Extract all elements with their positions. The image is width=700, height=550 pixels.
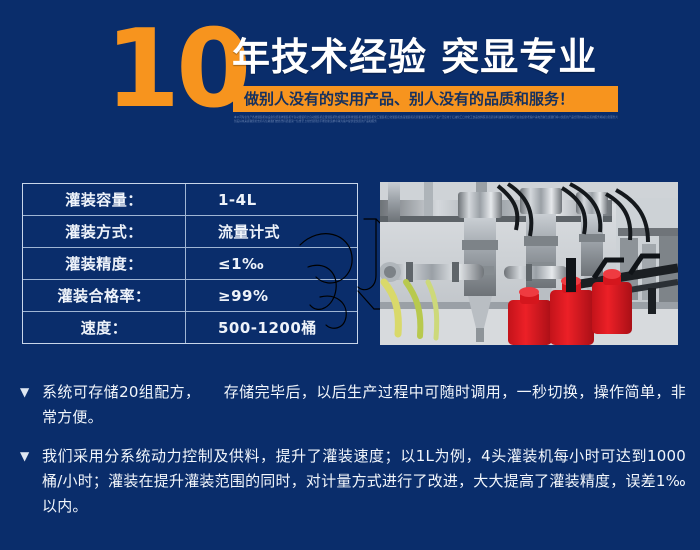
- list-item: ▼ 系统可存储20组配方， 存储完毕后，以后生产过程中可随时调用，一秒切换，操作…: [18, 380, 686, 430]
- bullet-text: 我们采用分系统动力控制及供料，提升了灌装速度；以1L为例，4头灌装机每小时可达到…: [42, 444, 686, 519]
- bullet-text: 系统可存储20组配方， 存储完毕后，以后生产过程中可随时调用，一秒切换，操作简单…: [42, 380, 686, 430]
- tagline-banner: 做别人没有的实用产品、别人没有的品质和服务！: [233, 86, 618, 112]
- product-photo: [380, 182, 678, 345]
- spec-value: ≥99%: [186, 280, 357, 311]
- spec-value: 500-1200桶: [186, 312, 357, 343]
- spec-label: 灌装容量：: [23, 184, 186, 215]
- spec-label: 灌装方式：: [23, 216, 186, 247]
- header-section: 10 年技术经验 突显专业 做别人没有的实用产品、别人没有的品质和服务！ 本公司…: [0, 0, 700, 150]
- table-row: 灌装方式： 流量计式: [23, 216, 357, 248]
- years-number: 10: [105, 16, 247, 124]
- spec-label: 速度：: [23, 312, 186, 343]
- table-row: 灌装容量： 1-4L: [23, 184, 357, 216]
- feature-bullet-list: ▼ 系统可存储20组配方， 存储完毕后，以后生产过程中可随时调用，一秒切换，操作…: [18, 380, 686, 533]
- spec-table: 灌装容量： 1-4L 灌装方式： 流量计式 灌装精度： ≤1‰ 灌装合格率： ≥…: [22, 183, 358, 344]
- table-row: 灌装精度： ≤1‰: [23, 248, 357, 280]
- tagline-text: 做别人没有的实用产品、别人没有的品质和服务！: [233, 91, 574, 108]
- list-item: ▼ 我们采用分系统动力控制及供料，提升了灌装速度；以1L为例，4头灌装机每小时可…: [18, 444, 686, 519]
- page-title: 年技术经验 突显专业: [232, 33, 597, 81]
- triangle-down-icon: ▼: [18, 444, 42, 468]
- spec-value: ≤1‰: [186, 248, 357, 279]
- filling-machine-photo-illustration: [380, 182, 678, 345]
- table-row: 速度： 500-1200桶: [23, 312, 357, 343]
- spec-label: 灌装精度：: [23, 248, 186, 279]
- table-row: 灌装合格率： ≥99%: [23, 280, 357, 312]
- spec-value: 流量计式: [186, 216, 357, 247]
- triangle-down-icon: ▼: [18, 380, 42, 404]
- spec-label: 灌装合格率：: [23, 280, 186, 311]
- promo-banner-page: 10 年技术经验 突显专业 做别人没有的实用产品、别人没有的品质和服务！ 本公司…: [0, 0, 700, 550]
- fine-print-text: 本公司专业生产各类灌装机械设备包括液体灌装机半自动灌装机全自动灌装机定量灌装机防…: [234, 116, 618, 125]
- spec-value: 1-4L: [186, 184, 357, 215]
